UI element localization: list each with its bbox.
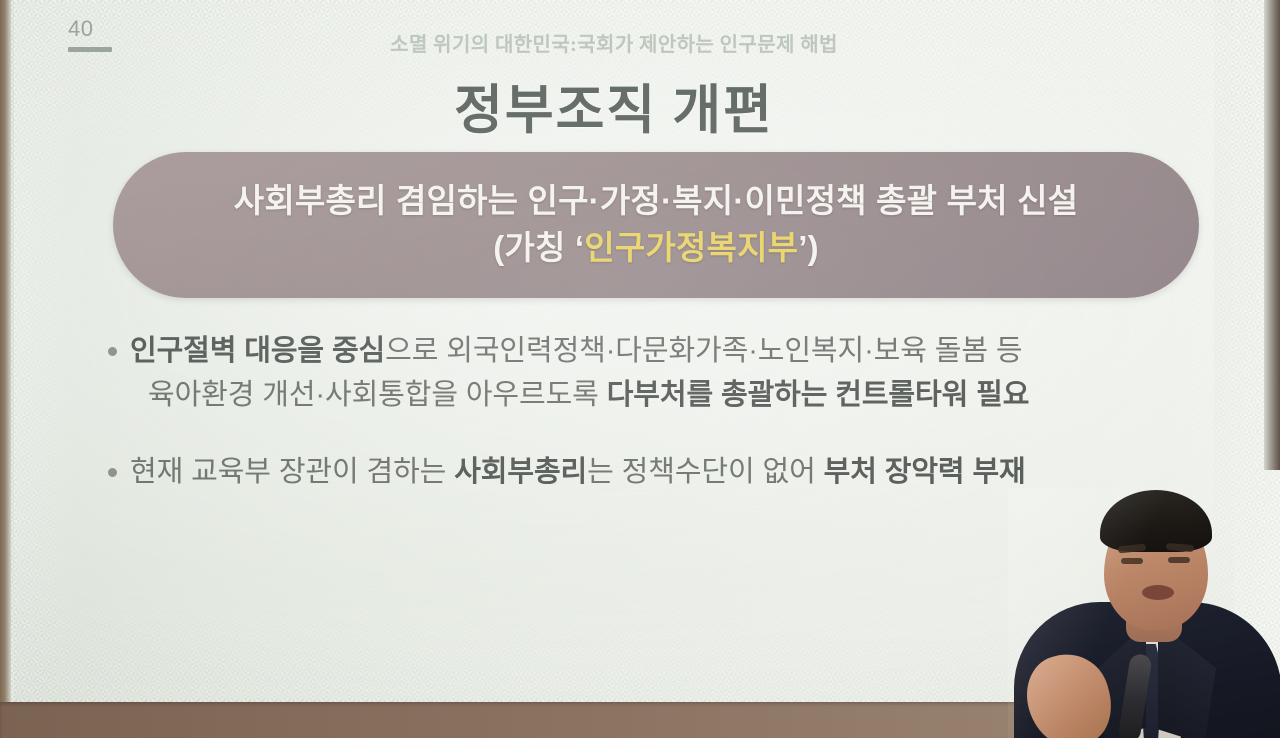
bullet-2-pre: 현재 교육부 장관이 겸하는 — [130, 456, 454, 488]
presenter-figure — [1008, 488, 1280, 738]
presenter-eye-left — [1121, 558, 1143, 564]
bullet-dot-icon — [108, 347, 117, 356]
bullet-1-bold-1: 인구절벽 대응을 중심 — [130, 335, 385, 367]
bullet-1-line-1: 인구절벽 대응을 중심으로 외국인력정책·다문화가족·노인복지·보육 돌봄 등 — [130, 330, 1172, 374]
banner-line-2: (가칭 ‘인구가정복지부’) — [493, 227, 819, 270]
presenter-lapel-pin — [1186, 668, 1200, 682]
bullet-2-bold-2: 부처 장악력 부재 — [824, 456, 1026, 488]
bullet-1-bold-2: 다부처를 총괄하는 컨트롤타워 필요 — [607, 379, 1030, 411]
presenter-eye-right — [1168, 557, 1190, 563]
presenter-mouth — [1142, 585, 1174, 600]
screenshot-stage: 40 소멸 위기의 대한민국:국회가 제안하는 인구문제 해법 정부조직 개편 … — [0, 0, 1280, 738]
running-header: 소멸 위기의 대한민국:국회가 제안하는 인구문제 해법 — [14, 28, 1214, 57]
presenter-hair — [1100, 490, 1212, 552]
wall-edge-left — [0, 0, 11, 738]
page-title: 정부조직 개편 — [14, 68, 1214, 144]
banner-line-2-prefix: (가칭 ‘ — [493, 229, 584, 266]
bullet-1-line-2: 육아환경 개선·사회통합을 아우르도록 다부처를 총괄하는 컨트롤타워 필요 — [130, 374, 1172, 418]
banner-line-1: 사회부총리 겸임하는 인구·가정·복지·이민정책 총괄 부처 신설 — [234, 180, 1078, 223]
bullet-1-rest-1: 으로 외국인력정책·다문화가족·노인복지·보육 돌봄 등 — [385, 335, 1022, 367]
bullet-dot-icon — [108, 468, 117, 477]
list-item: 인구절벽 대응을 중심으로 외국인력정책·다문화가족·노인복지·보육 돌봄 등 … — [102, 330, 1172, 417]
wall-edge-right — [1264, 0, 1280, 470]
bullet-text-1: 인구절벽 대응을 중심으로 외국인력정책·다문화가족·노인복지·보육 돌봄 등 … — [102, 330, 1172, 417]
banner-line-2-suffix: ’) — [798, 229, 819, 266]
highlight-banner: 사회부총리 겸임하는 인구·가정·복지·이민정책 총괄 부처 신설 (가칭 ‘인… — [113, 152, 1199, 298]
bullet-2-mid: 는 정책수단이 없어 — [587, 456, 824, 488]
banner-highlight-term: 인구가정복지부 — [584, 229, 798, 266]
bullet-1-rest-2: 육아환경 개선·사회통합을 아우르도록 — [148, 379, 607, 411]
bullet-2-bold-1: 사회부총리 — [454, 456, 587, 488]
